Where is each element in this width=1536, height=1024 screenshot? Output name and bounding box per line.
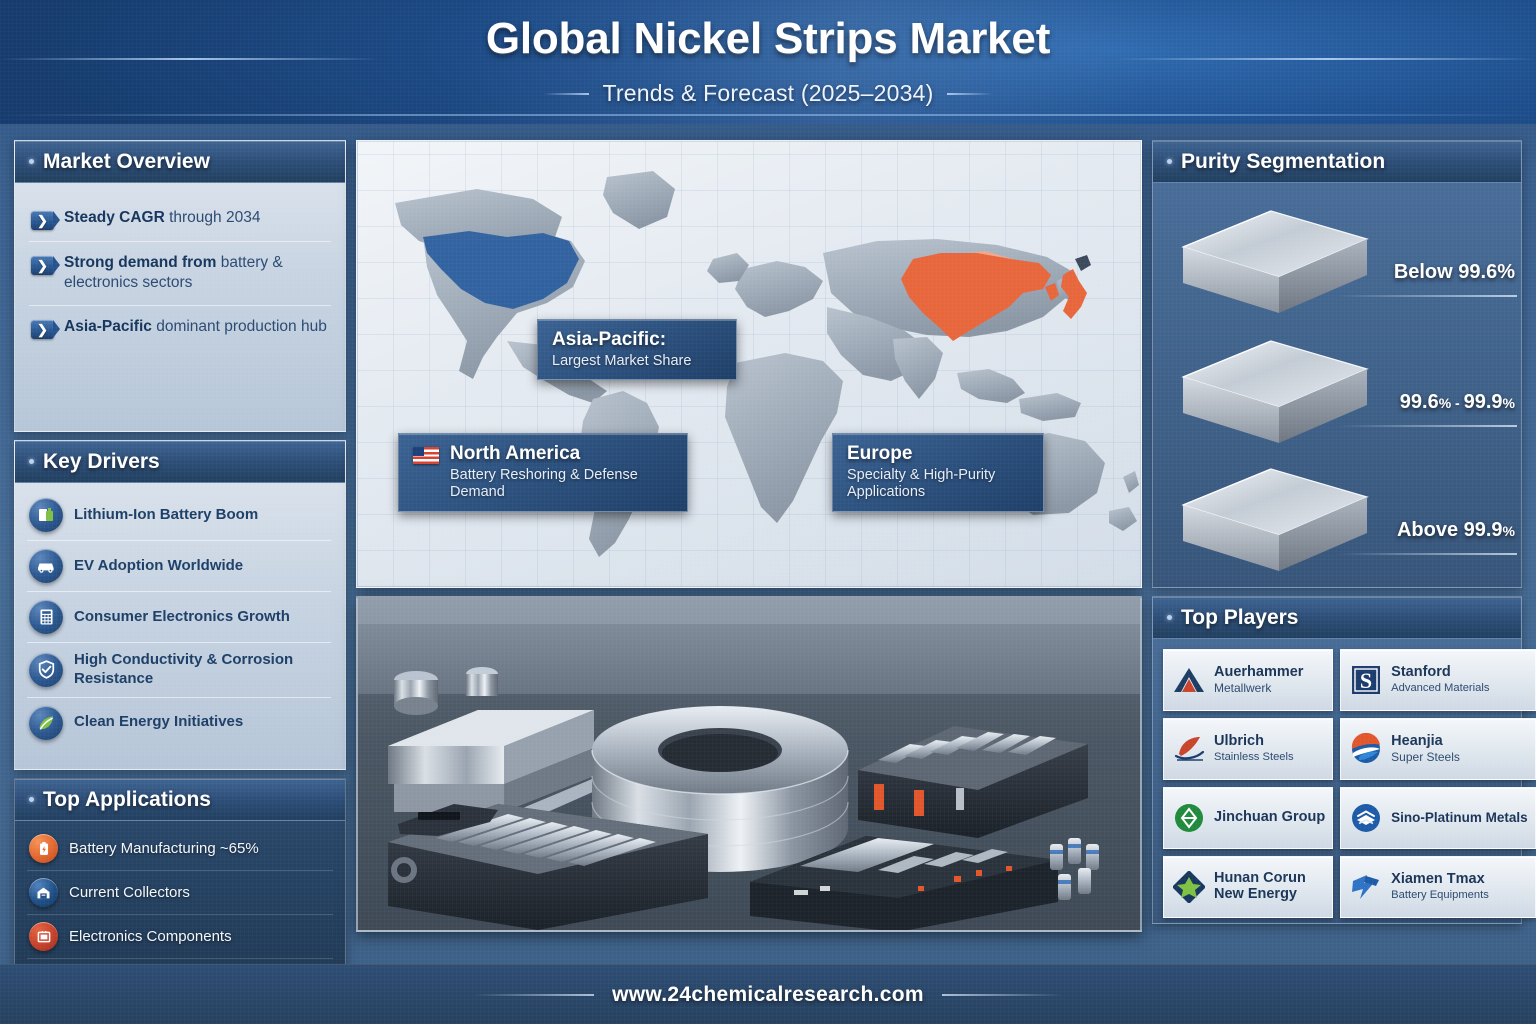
list-item[interactable]: Battery Manufacturing ~65% xyxy=(27,827,333,870)
purity-label: Below 99.6% xyxy=(1394,261,1515,284)
bullet-dot-icon xyxy=(1167,159,1172,164)
market-overview-header: Market Overview xyxy=(15,141,345,183)
market-overview-panel: Market Overview ❯ Steady CAGR through 20… xyxy=(14,140,346,432)
subtitle-dash-left xyxy=(543,93,589,95)
player-name-primary: Auerhammer xyxy=(1214,665,1303,681)
battery-cell-icon xyxy=(29,834,58,863)
player-name-primary: Xiamen Tmax xyxy=(1391,872,1489,888)
player-card-hunan-corun[interactable]: Hunan Corun New Energy xyxy=(1163,856,1333,918)
leaf-icon xyxy=(29,706,63,740)
top-players-heading: Top Players xyxy=(1181,606,1299,630)
list-item[interactable]: High Conductivity & Corrosion Resistance xyxy=(27,642,331,697)
player-names: Heanjia Super Steels xyxy=(1391,734,1460,764)
player-card-heanjia[interactable]: Heanjia Super Steels xyxy=(1340,718,1536,780)
player-names: Xiamen Tmax Battery Equipments xyxy=(1391,872,1489,901)
map-highlight-hokkaido xyxy=(1075,255,1091,271)
right-sidebar: Purity Segmentation xyxy=(1152,140,1522,924)
map-label-asia-pacific[interactable]: Asia-Pacific: Largest Market Share xyxy=(537,319,737,380)
nickel-block-icon xyxy=(1175,333,1375,451)
map-label-subtitle: Battery Reshoring & Defense Demand xyxy=(450,467,673,502)
subtitle-group: Trends & Forecast (2025–2034) xyxy=(0,80,1536,107)
svg-text:S: S xyxy=(1360,668,1372,693)
left-sidebar: Market Overview ❯ Steady CAGR through 20… xyxy=(14,140,346,991)
player-name-secondary: Advanced Materials xyxy=(1391,682,1489,695)
list-item[interactable]: ❯ Strong demand from battery & electroni… xyxy=(29,241,331,305)
key-drivers-panel: Key Drivers Lithium-Ion Battery Boom xyxy=(14,440,346,770)
purity-segmentation-header: Purity Segmentation xyxy=(1153,141,1521,183)
player-card-sino-platinum[interactable]: Sino-Platinum Metals xyxy=(1340,787,1536,849)
player-names: Sino-Platinum Metals xyxy=(1391,811,1528,826)
player-name-primary: Stanford xyxy=(1391,665,1489,681)
us-flag-icon xyxy=(413,447,439,464)
driver-label: Consumer Electronics Growth xyxy=(74,608,290,627)
purity-segmentation-heading: Purity Segmentation xyxy=(1181,150,1385,174)
market-overview-list: ❯ Steady CAGR through 2034 ❯ Strong dema… xyxy=(15,183,345,350)
overview-item-text: Strong demand from battery & electronics… xyxy=(64,253,329,294)
list-item[interactable]: Clean Energy Initiatives xyxy=(27,697,331,748)
driver-label: EV Adoption Worldwide xyxy=(74,557,243,576)
market-overview-heading: Market Overview xyxy=(43,150,210,174)
chevron-right-icon: ❯ xyxy=(31,211,54,230)
map-label-subtitle: Largest Market Share xyxy=(552,353,722,370)
map-label-north-america[interactable]: North America Battery Reshoring & Defens… xyxy=(398,433,688,512)
player-card-xiamen-tmax[interactable]: Xiamen Tmax Battery Equipments xyxy=(1340,856,1536,918)
list-item[interactable]: ❯ Asia-Pacific dominant production hub xyxy=(29,305,331,350)
purity-row[interactable]: 99.6% - 99.9% xyxy=(1153,333,1523,453)
player-names: Auerhammer Metallwerk xyxy=(1214,665,1303,695)
player-card-ulbrich[interactable]: Ulbrich Stainless Steels xyxy=(1163,718,1333,780)
xiamen-tmax-logo-icon xyxy=(1348,869,1384,905)
stanford-logo-icon: S xyxy=(1348,662,1384,698)
top-applications-header: Top Applications xyxy=(15,779,345,821)
player-name-primary: Heanjia xyxy=(1391,734,1460,750)
footer-bar: www.24chemicalresearch.com xyxy=(0,964,1536,1024)
top-players-header: Top Players xyxy=(1153,597,1521,639)
top-players-grid: Auerhammer Metallwerk S Stanford xyxy=(1153,639,1521,928)
battery-icon xyxy=(29,498,63,532)
key-drivers-header: Key Drivers xyxy=(15,441,345,483)
ulbrich-logo-icon xyxy=(1171,731,1207,767)
top-players-panel: Top Players Auerhammer Metallwerk xyxy=(1152,596,1522,924)
chevron-right-icon: ❯ xyxy=(31,320,54,339)
driver-label: Clean Energy Initiatives xyxy=(74,713,243,732)
footer-dash-left xyxy=(474,994,594,996)
player-name-secondary: New Energy xyxy=(1214,887,1306,903)
player-names: Hunan Corun New Energy xyxy=(1214,871,1306,902)
application-label: Electronics Components xyxy=(69,928,232,945)
jinchuan-logo-icon xyxy=(1171,800,1207,836)
sino-platinum-logo-icon xyxy=(1348,800,1384,836)
car-icon xyxy=(29,549,63,583)
player-names: Ulbrich Stainless Steels xyxy=(1214,734,1294,763)
auerhammer-logo-icon xyxy=(1171,662,1207,698)
player-names: Jinchuan Group xyxy=(1214,810,1325,826)
overview-item-text: Asia-Pacific dominant production hub xyxy=(64,317,327,337)
purity-underline xyxy=(1337,553,1517,555)
nickel-block-icon xyxy=(1175,461,1375,579)
player-name-secondary: Stainless Steels xyxy=(1214,751,1294,764)
shield-check-icon xyxy=(29,653,63,687)
subtitle-dash-right xyxy=(947,93,993,95)
application-label: Battery Manufacturing ~65% xyxy=(69,840,259,857)
player-name-primary: Sino-Platinum Metals xyxy=(1391,811,1528,826)
bullet-dot-icon xyxy=(29,797,34,802)
calculator-icon xyxy=(29,600,63,634)
bullet-dot-icon xyxy=(29,159,34,164)
player-name-secondary: Metallwerk xyxy=(1214,682,1303,695)
footer-url[interactable]: www.24chemicalresearch.com xyxy=(612,983,924,1007)
map-label-title: Europe xyxy=(847,443,1029,465)
purity-underline xyxy=(1337,295,1517,297)
list-item[interactable]: Lithium-Ion Battery Boom xyxy=(27,490,331,540)
list-item[interactable]: ❯ Steady CAGR through 2034 xyxy=(29,197,331,241)
world-map-panel: Asia-Pacific: Largest Market Share North… xyxy=(356,140,1142,588)
list-item[interactable]: Current Collectors xyxy=(27,870,333,914)
player-card-auerhammer[interactable]: Auerhammer Metallwerk xyxy=(1163,649,1333,711)
page-subtitle: Trends & Forecast (2025–2034) xyxy=(603,80,934,107)
list-item[interactable]: Electronics Components xyxy=(27,914,333,958)
list-item[interactable]: Consumer Electronics Growth xyxy=(27,591,331,642)
infographic-root: Global Nickel Strips Market Trends & For… xyxy=(0,0,1536,1024)
top-applications-panel: Top Applications Battery Manufacturing ~… xyxy=(14,778,346,991)
bullet-dot-icon xyxy=(1167,615,1172,620)
chevron-right-icon: ❯ xyxy=(31,256,54,275)
key-drivers-list: Lithium-Ion Battery Boom EV Adoption Wor… xyxy=(15,483,345,748)
map-label-europe[interactable]: Europe Specialty & High-Purity Applicati… xyxy=(832,433,1044,512)
purity-segmentation-panel: Purity Segmentation xyxy=(1152,140,1522,588)
driver-label: Lithium-Ion Battery Boom xyxy=(74,506,258,525)
purity-underline xyxy=(1337,425,1517,427)
purity-row[interactable]: Below 99.6% xyxy=(1153,203,1523,323)
purity-blocks-body: Below 99.6% 99.6% - 99.9% xyxy=(1153,183,1521,589)
hunan-corun-logo-icon xyxy=(1171,869,1207,905)
player-name-secondary: Battery Equipments xyxy=(1391,889,1489,902)
product-photo-illustration xyxy=(358,598,1142,932)
application-label: Current Collectors xyxy=(69,884,190,901)
purity-label: Above 99.9% xyxy=(1397,519,1515,542)
map-label-title: Asia-Pacific: xyxy=(552,329,722,351)
current-collector-icon xyxy=(29,878,58,907)
purity-row[interactable]: Above 99.9% xyxy=(1153,461,1523,581)
nickel-block-icon xyxy=(1175,203,1375,321)
player-name-primary: Hunan Corun xyxy=(1214,871,1306,887)
world-map-svg xyxy=(357,141,1142,588)
player-name-primary: Jinchuan Group xyxy=(1214,810,1325,826)
bullet-dot-icon xyxy=(29,459,34,464)
driver-label: High Conductivity & Corrosion Resistance xyxy=(74,651,329,689)
header-banner: Global Nickel Strips Market Trends & For… xyxy=(0,0,1536,124)
product-photo-panel xyxy=(356,596,1142,932)
player-name-secondary: Super Steels xyxy=(1391,751,1460,764)
heanjia-logo-icon xyxy=(1348,731,1384,767)
map-label-subtitle: Specialty & High-Purity Applications xyxy=(847,467,1029,502)
overview-item-text: Steady CAGR through 2034 xyxy=(64,208,260,228)
map-label-title: North America xyxy=(450,443,673,465)
player-card-jinchuan[interactable]: Jinchuan Group xyxy=(1163,787,1333,849)
top-applications-heading: Top Applications xyxy=(43,788,211,812)
list-item[interactable]: EV Adoption Worldwide xyxy=(27,540,331,591)
key-drivers-heading: Key Drivers xyxy=(43,450,160,474)
purity-label: 99.6% - 99.9% xyxy=(1400,391,1515,414)
page-title: Global Nickel Strips Market xyxy=(0,14,1536,64)
circuit-board-icon xyxy=(29,922,58,951)
player-card-stanford[interactable]: S Stanford Advanced Materials xyxy=(1340,649,1536,711)
header-bottom-rule xyxy=(0,114,1536,116)
footer-dash-right xyxy=(942,994,1062,996)
player-names: Stanford Advanced Materials xyxy=(1391,665,1489,694)
player-name-primary: Ulbrich xyxy=(1214,734,1294,750)
